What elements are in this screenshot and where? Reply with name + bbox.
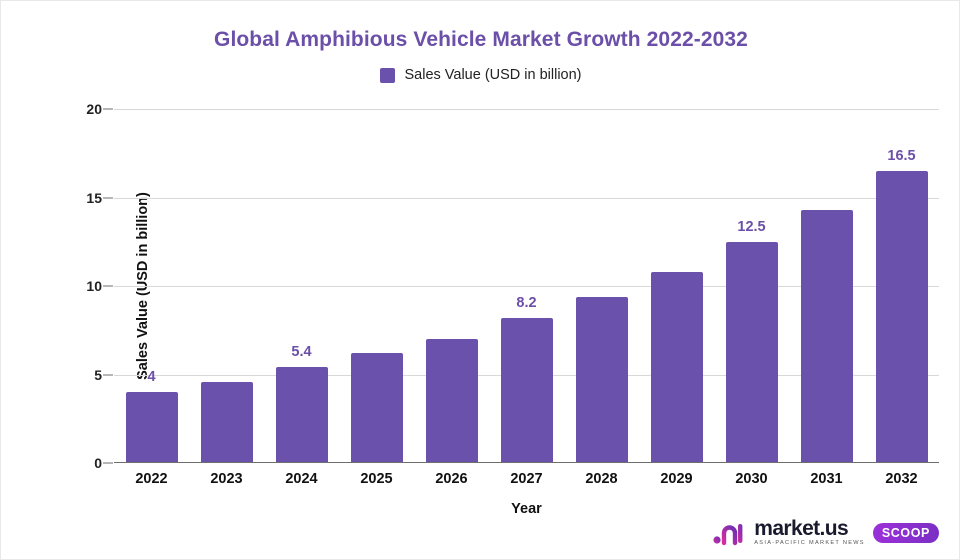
y-tick-mark-15: [103, 197, 113, 198]
bar-slot-2028[interactable]: [564, 109, 639, 463]
plot-area: 05101520 45.48.212.516.5: [114, 109, 939, 463]
bar-value-label-2032: 16.5: [887, 148, 915, 164]
bar-value-label-2024: 5.4: [291, 344, 311, 360]
bar-slot-2024[interactable]: 5.4: [264, 109, 339, 463]
logo-wordmark: market.us: [754, 518, 865, 539]
bar-2031[interactable]: [801, 210, 853, 463]
x-tick-label-2031: 2031: [789, 471, 864, 487]
x-axis-tick-labels: 2022202320242025202620272028202920302031…: [114, 471, 939, 487]
x-tick-label-2024: 2024: [264, 471, 339, 487]
bar-2026[interactable]: [426, 339, 478, 463]
bar-value-label-2022: 4: [147, 369, 155, 385]
bar-2030[interactable]: [726, 242, 778, 463]
bar-2023[interactable]: [201, 382, 253, 463]
bar-2028[interactable]: [576, 297, 628, 463]
y-tick-mark-20: [103, 109, 113, 110]
x-tick-label-2028: 2028: [564, 471, 639, 487]
x-tick-label-2030: 2030: [714, 471, 789, 487]
bar-value-label-2027: 8.2: [516, 295, 536, 311]
market-us-logo: market.us ASIA-PACIFIC MARKET NEWS SCOOP: [713, 518, 939, 547]
x-tick-label-2032: 2032: [864, 471, 939, 487]
y-tick-mark-10: [103, 286, 113, 287]
bar-value-label-2030: 12.5: [737, 219, 765, 235]
x-tick-label-2029: 2029: [639, 471, 714, 487]
x-axis-title: Year: [114, 501, 939, 517]
bar-slot-2025[interactable]: [339, 109, 414, 463]
y-tick-label-10: 10: [86, 278, 102, 294]
chart-legend: Sales Value (USD in billion): [1, 67, 960, 83]
bar-group: 45.48.212.516.5: [114, 109, 939, 463]
chart-title: Global Amphibious Vehicle Market Growth …: [1, 28, 960, 52]
bar-slot-2026[interactable]: [414, 109, 489, 463]
logo-scoop-badge: SCOOP: [873, 523, 939, 543]
bar-2022[interactable]: [126, 392, 178, 463]
bar-2029[interactable]: [651, 272, 703, 463]
x-tick-label-2022: 2022: [114, 471, 189, 487]
x-axis-line: [114, 462, 939, 464]
bar-2024[interactable]: [276, 367, 328, 463]
x-tick-label-2027: 2027: [489, 471, 564, 487]
bar-2025[interactable]: [351, 353, 403, 463]
bar-2027[interactable]: [501, 318, 553, 463]
x-tick-label-2023: 2023: [189, 471, 264, 487]
market-us-logo-icon: [713, 520, 747, 546]
legend-swatch-sales-value: [380, 68, 395, 83]
x-tick-label-2025: 2025: [339, 471, 414, 487]
logo-tagline: ASIA-PACIFIC MARKET NEWS: [754, 541, 865, 547]
y-tick-label-5: 5: [94, 367, 102, 383]
y-tick-label-20: 20: [86, 101, 102, 117]
bar-slot-2030[interactable]: 12.5: [714, 109, 789, 463]
bar-slot-2023[interactable]: [189, 109, 264, 463]
y-tick-label-0: 0: [94, 455, 102, 471]
bar-2032[interactable]: [876, 171, 928, 463]
bar-slot-2022[interactable]: 4: [114, 109, 189, 463]
bar-slot-2031[interactable]: [789, 109, 864, 463]
x-tick-label-2026: 2026: [414, 471, 489, 487]
y-tick-label-15: 15: [86, 190, 102, 206]
y-tick-mark-0: [103, 463, 113, 464]
y-tick-mark-5: [103, 374, 113, 375]
bar-slot-2032[interactable]: 16.5: [864, 109, 939, 463]
market-us-logo-text: market.us ASIA-PACIFIC MARKET NEWS: [754, 518, 865, 547]
bar-slot-2029[interactable]: [639, 109, 714, 463]
chart-card: Global Amphibious Vehicle Market Growth …: [0, 0, 960, 560]
legend-label-sales-value: Sales Value (USD in billion): [404, 67, 581, 83]
bar-slot-2027[interactable]: 8.2: [489, 109, 564, 463]
